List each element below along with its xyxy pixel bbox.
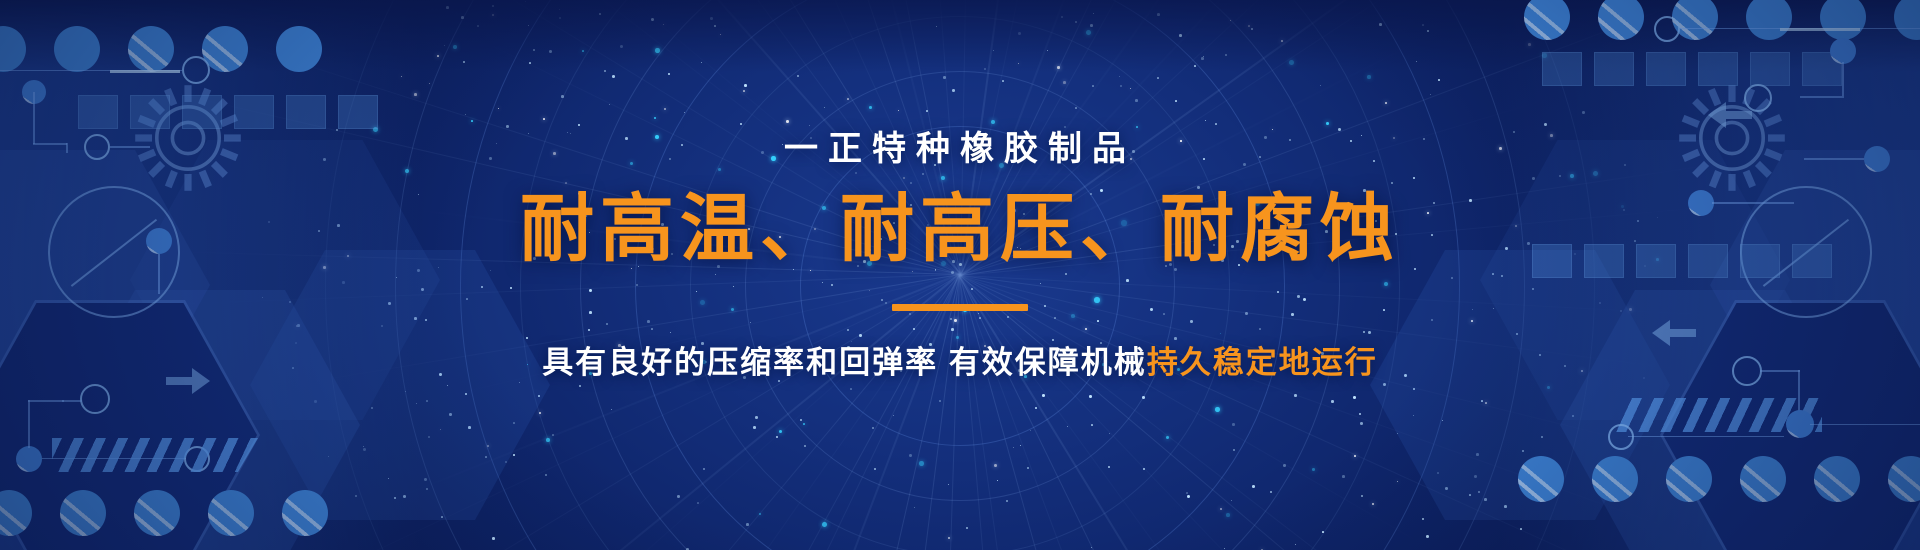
star-particle [822, 522, 827, 527]
star-particle [1232, 423, 1235, 426]
tile [130, 95, 170, 129]
star-particle [1142, 396, 1145, 399]
star-particle [1520, 528, 1522, 530]
star-particle [1157, 13, 1160, 16]
star-particle [1166, 436, 1169, 439]
star-particle [919, 461, 924, 466]
star-particle [984, 68, 986, 70]
star-particle [1093, 13, 1094, 14]
star-particle [663, 24, 664, 25]
star-particle [578, 124, 580, 126]
star-particle [991, 120, 995, 124]
star-particle [1187, 495, 1190, 498]
star-particle [743, 90, 745, 92]
circuit-node-icon [16, 446, 42, 472]
tile-row [78, 95, 378, 129]
planet-circle-icon [208, 490, 254, 536]
star-particle [847, 98, 849, 100]
star-particle [1379, 23, 1382, 26]
star-particle [804, 445, 806, 447]
star-particle [1018, 32, 1021, 35]
star-particle [1119, 76, 1120, 77]
star-particle [703, 468, 705, 470]
star-particle [492, 537, 495, 540]
star-particle [1215, 123, 1217, 125]
star-particle [1427, 30, 1429, 32]
star-particle [1331, 400, 1334, 403]
planet-circle-icon [134, 490, 180, 536]
star-particle [936, 26, 937, 27]
star-particle [446, 6, 449, 9]
star-particle [797, 75, 799, 77]
star-particle [1367, 75, 1371, 79]
star-particle [744, 84, 747, 87]
star-particle [1136, 126, 1138, 128]
star-particle [401, 76, 402, 77]
star-particle [611, 409, 612, 410]
star-particle [850, 388, 852, 390]
star-particle [463, 61, 465, 63]
star-particle [786, 120, 789, 123]
star-particle [1231, 500, 1232, 501]
star-particle [1372, 503, 1374, 505]
star-particle [539, 412, 541, 414]
tile [234, 95, 274, 129]
planet-circle-icon [54, 26, 100, 72]
star-particle [612, 75, 615, 78]
arrow-left-icon [1708, 100, 1752, 130]
star-particle [655, 48, 660, 53]
star-particle [952, 89, 955, 92]
circuit-line [28, 400, 64, 402]
star-particle [824, 107, 825, 108]
star-particle [1075, 21, 1077, 23]
planet-circle-icon [60, 490, 106, 536]
planet-circle-icon [1740, 456, 1786, 502]
planet-circle-icon [128, 26, 174, 72]
star-particle [1342, 475, 1345, 478]
star-particle [546, 438, 550, 442]
circuit-line [1842, 62, 1844, 96]
orange-divider [892, 304, 1028, 311]
star-particle [1270, 491, 1272, 493]
star-particle [800, 419, 802, 421]
star-particle [1230, 20, 1231, 21]
star-particle [1385, 102, 1387, 104]
star-particle [779, 430, 782, 433]
circuit-line [62, 400, 82, 402]
star-particle [1320, 85, 1321, 86]
planet-circle-icon [1894, 0, 1920, 40]
star-particle [620, 45, 623, 48]
star-particle [1030, 430, 1031, 431]
star-particle [898, 110, 899, 111]
star-particle [1582, 111, 1585, 114]
planet-circle-icon [1592, 456, 1638, 502]
star-particle [664, 108, 666, 110]
circuit-node-icon [1830, 38, 1856, 64]
star-particle [1120, 85, 1122, 87]
circuit-line [1810, 424, 1920, 425]
banner-eyebrow: 一正特种橡胶制品 [0, 132, 1920, 166]
star-particle [1027, 467, 1029, 469]
star-particle [1289, 60, 1294, 65]
tile [286, 95, 326, 129]
banner-headline: 耐高温、耐高压、耐腐蚀 [0, 192, 1920, 266]
planet-row [0, 490, 328, 536]
star-particle [1272, 129, 1273, 130]
circuit-line [1628, 436, 1784, 437]
tile [1594, 52, 1634, 86]
star-particle [874, 468, 876, 470]
star-particle [1109, 433, 1110, 434]
star-particle [545, 474, 547, 476]
star-particle [994, 464, 997, 467]
star-particle [1251, 28, 1253, 30]
star-particle [1528, 43, 1531, 46]
star-particle [1018, 63, 1019, 64]
star-particle [1233, 449, 1235, 451]
star-particle [559, 9, 560, 10]
planet-circle-icon [1814, 456, 1860, 502]
star-particle [1135, 99, 1138, 102]
planet-row [1524, 0, 1920, 40]
star-particle [1063, 81, 1066, 84]
star-particle [1397, 481, 1398, 482]
star-particle [1224, 548, 1225, 549]
star-particle [1157, 77, 1159, 79]
star-particle [453, 45, 457, 49]
planet-circle-icon [1888, 456, 1920, 502]
star-particle [1422, 24, 1424, 26]
star-particle [869, 106, 872, 109]
star-particle [1295, 544, 1296, 545]
star-particle [778, 380, 780, 382]
star-particle [939, 400, 941, 402]
star-particle [776, 436, 778, 438]
planet-circle-icon [1746, 0, 1792, 40]
star-particle [948, 537, 950, 539]
hero-banner: 一正特种橡胶制品 耐高温、耐高压、耐腐蚀 具有良好的压缩率和回弹率 有效保障机械… [0, 0, 1920, 550]
circuit-node-icon [80, 384, 110, 414]
star-particle [1220, 508, 1222, 510]
tile [1542, 52, 1582, 86]
tile [1750, 52, 1790, 86]
star-particle [1422, 518, 1424, 520]
star-particle [1544, 123, 1547, 126]
star-particle [552, 434, 554, 436]
star-particle [893, 415, 894, 416]
star-particle [1013, 447, 1014, 448]
star-particle [720, 34, 721, 35]
star-particle [677, 495, 680, 498]
planet-circle-icon [1820, 0, 1866, 40]
star-particle [1186, 492, 1188, 494]
star-particle [609, 104, 610, 105]
planet-circle-icon [0, 26, 26, 72]
tile [1698, 52, 1738, 86]
star-particle [599, 13, 601, 15]
star-particle [759, 513, 761, 515]
planet-circle-icon [1524, 0, 1570, 40]
star-particle [498, 108, 499, 109]
tile [78, 95, 118, 129]
star-particle [1047, 50, 1048, 51]
star-particle [1089, 395, 1092, 398]
star-particle [579, 385, 581, 387]
star-particle [914, 507, 915, 508]
circuit-line [110, 70, 180, 73]
star-particle [528, 25, 529, 26]
star-particle [1091, 424, 1093, 426]
star-particle [1064, 126, 1066, 128]
star-particle [429, 83, 430, 84]
star-particle [926, 110, 928, 112]
star-particle [943, 76, 946, 79]
star-particle [465, 114, 466, 115]
star-particle [1359, 413, 1361, 415]
star-particle [1430, 94, 1431, 95]
star-particle [1312, 468, 1315, 471]
star-particle [1092, 85, 1094, 87]
star-particle [1201, 57, 1204, 60]
star-particle [561, 95, 564, 98]
circuit-node-icon [1654, 16, 1680, 42]
star-particle [1416, 61, 1417, 62]
tile-row [1542, 52, 1842, 86]
star-particle [533, 49, 535, 51]
star-particle [1035, 407, 1037, 409]
star-particle [1091, 547, 1092, 548]
star-particle [1090, 24, 1093, 27]
planet-circle-icon [1666, 456, 1712, 502]
planet-circle-icon [282, 490, 328, 536]
star-particle [1086, 30, 1091, 35]
star-particle [1226, 513, 1230, 517]
star-particle [1205, 120, 1206, 121]
star-particle [336, 129, 338, 131]
star-particle [746, 523, 749, 526]
star-particle [437, 55, 439, 57]
planet-row [1518, 456, 1920, 502]
star-particle [753, 426, 756, 429]
star-particle [506, 125, 509, 128]
star-particle [414, 93, 417, 96]
star-particle [461, 16, 464, 19]
star-particle [1143, 468, 1145, 470]
star-particle [1175, 100, 1177, 102]
star-particle [1006, 500, 1008, 502]
star-particle [529, 62, 531, 64]
star-particle [1108, 466, 1110, 468]
star-particle [549, 50, 552, 53]
star-particle [513, 454, 515, 456]
star-particle [803, 423, 805, 425]
star-particle [1338, 128, 1341, 131]
star-particle [993, 50, 994, 51]
star-particle [492, 5, 494, 7]
star-particle [1354, 455, 1356, 457]
circuit-line [28, 400, 30, 448]
star-particle [740, 123, 742, 125]
star-particle [1438, 79, 1440, 81]
star-particle [1075, 107, 1077, 109]
star-particle [1130, 88, 1131, 89]
star-particle [684, 112, 685, 113]
banner-tagline: 具有良好的压缩率和回弹率 有效保障机械持久稳定地运行 [0, 347, 1920, 378]
star-particle [1360, 422, 1363, 425]
star-particle [909, 454, 912, 457]
star-particle [477, 25, 479, 27]
star-particle [525, 1, 526, 2]
star-particle [697, 502, 699, 504]
star-particle [948, 484, 949, 485]
star-particle [872, 427, 874, 429]
star-particle [1322, 531, 1324, 533]
star-particle [1225, 54, 1227, 56]
tile [1646, 52, 1686, 86]
star-particle [492, 14, 494, 16]
star-particle [1061, 16, 1063, 18]
star-particle [1283, 464, 1286, 467]
star-particle [1248, 25, 1250, 27]
star-particle [444, 45, 445, 46]
planet-circle-icon [0, 490, 32, 536]
star-particle [604, 70, 606, 72]
star-particle [1002, 80, 1004, 82]
planet-circle-icon [1518, 456, 1564, 502]
star-particle [1067, 426, 1068, 427]
circuit-line [1780, 28, 1860, 31]
star-particle [1252, 485, 1255, 488]
star-particle [966, 527, 968, 529]
star-particle [1020, 445, 1021, 446]
planet-row [0, 26, 322, 72]
star-particle [1353, 396, 1356, 399]
star-particle [1179, 34, 1182, 37]
star-particle [471, 120, 473, 122]
star-particle [1057, 66, 1060, 69]
star-particle [668, 73, 670, 75]
planet-circle-icon [276, 26, 322, 72]
star-particle [809, 125, 810, 126]
planet-circle-icon [1598, 0, 1644, 40]
tagline-plain-text: 具有良好的压缩率和回弹率 有效保障机械 [542, 345, 1147, 380]
star-particle [651, 18, 654, 21]
banner-content: 一正特种橡胶制品 耐高温、耐高压、耐腐蚀 具有良好的压缩率和回弹率 有效保障机械… [0, 132, 1920, 378]
star-particle [1294, 394, 1297, 397]
circuit-node-icon [1608, 424, 1634, 450]
striped-bar-icon [52, 438, 258, 472]
star-particle [1361, 495, 1363, 497]
star-particle [1281, 40, 1283, 42]
star-particle [559, 17, 561, 19]
star-particle [654, 117, 656, 119]
star-particle [1326, 122, 1329, 125]
tile [182, 95, 222, 129]
star-particle [1215, 407, 1220, 412]
star-particle [543, 118, 545, 120]
star-particle [1426, 535, 1429, 538]
star-particle [714, 25, 716, 27]
star-particle [701, 62, 702, 63]
star-particle [755, 416, 758, 419]
star-particle [1203, 56, 1204, 57]
star-particle [997, 480, 998, 481]
circuit-node-icon [182, 56, 210, 84]
star-particle [582, 50, 584, 52]
tile [338, 95, 378, 129]
tagline-highlight-text: 持久稳定地运行 [1147, 345, 1378, 380]
star-particle [710, 17, 713, 20]
star-particle [1194, 65, 1196, 67]
star-particle [1042, 394, 1045, 397]
circuit-line [1800, 96, 1844, 98]
